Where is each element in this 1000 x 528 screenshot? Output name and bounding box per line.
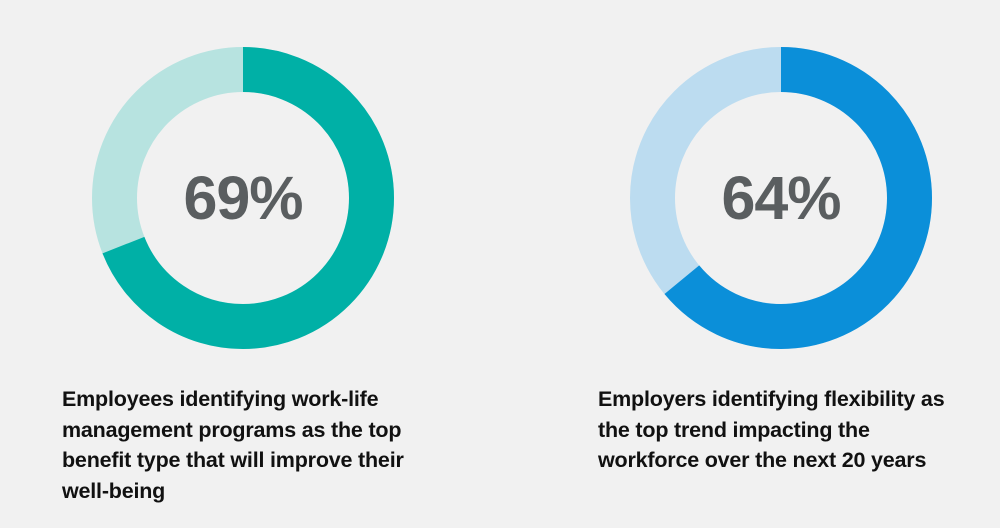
caption-flexibility: Employers identifying flexibility as the… bbox=[598, 384, 970, 476]
infographic-canvas: 69% Employees identifying work-life mana… bbox=[0, 0, 1000, 528]
donut-value-work-life: 69% bbox=[92, 47, 394, 349]
stat-block-work-life: 69% Employees identifying work-life mana… bbox=[8, 0, 478, 528]
caption-work-life: Employees identifying work-life manageme… bbox=[62, 384, 442, 506]
donut-chart-work-life: 69% bbox=[92, 47, 394, 349]
donut-value-flexibility: 64% bbox=[630, 47, 932, 349]
donut-chart-flexibility: 64% bbox=[630, 47, 932, 349]
stat-block-flexibility: 64% Employers identifying flexibility as… bbox=[546, 0, 1000, 528]
